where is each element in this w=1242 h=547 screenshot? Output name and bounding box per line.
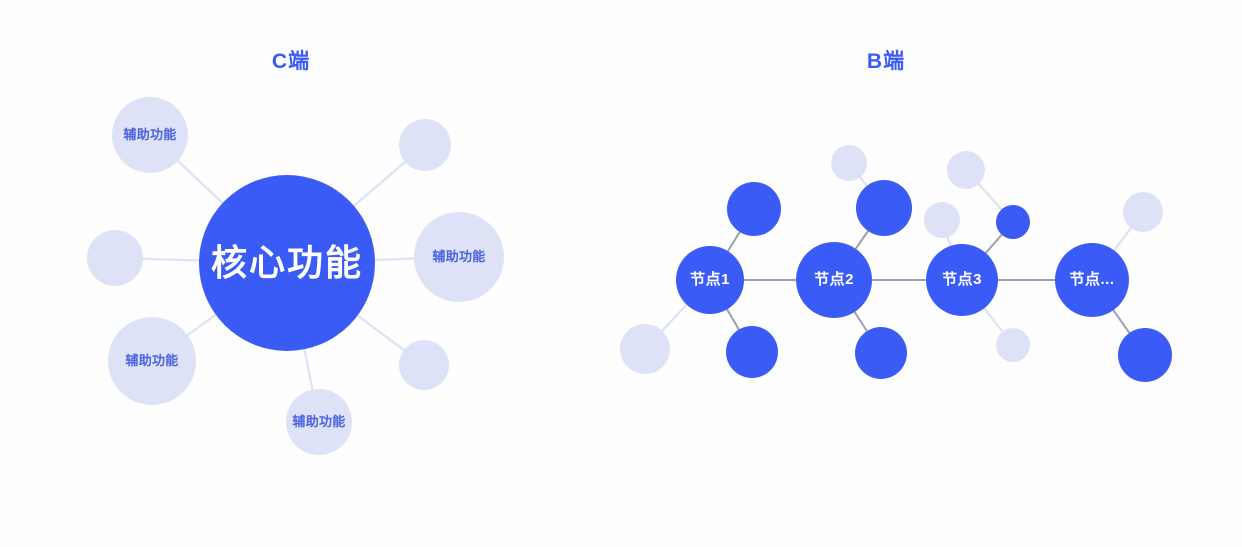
c-decorative-circle-4 — [399, 340, 449, 390]
b-branch-edge-6 — [986, 235, 1002, 253]
c-satellite-node-3[interactable]: 辅助功能 — [286, 389, 352, 455]
b-branch-edge-5 — [860, 177, 867, 186]
b-branch-edge-0 — [728, 232, 740, 251]
c-satellite-node-0[interactable]: 辅助功能 — [112, 97, 188, 173]
b-branch-edge-8 — [948, 237, 951, 246]
b-branch-edge-2 — [662, 305, 687, 331]
b-branch-node-11 — [1118, 328, 1172, 382]
b-branch-node-4 — [855, 327, 907, 379]
c-satellite-node-0-label: 辅助功能 — [123, 128, 176, 142]
c-satellite-node-2[interactable]: 辅助功能 — [108, 317, 196, 405]
b-branch-edge-1 — [727, 309, 739, 329]
b-chain-node-0-label: 节点1 — [690, 272, 730, 289]
b-chain-node-2-label: 节点3 — [942, 272, 982, 289]
b-branch-node-2 — [620, 324, 670, 374]
c-edge-1 — [143, 259, 199, 261]
c-decorative-circle-6 — [399, 119, 451, 171]
panel-title-c: C端 — [272, 45, 310, 75]
b-chain-node-3-label: 节点... — [1069, 272, 1114, 289]
b-branch-node-6 — [996, 205, 1030, 239]
b-branch-node-9 — [996, 328, 1030, 362]
c-core-node-label: 核心功能 — [211, 243, 363, 283]
b-branch-edge-10 — [1114, 228, 1131, 250]
b-chain-node-1[interactable]: 节点2 — [796, 242, 872, 318]
panel-title-b: B端 — [867, 45, 905, 75]
c-edge-5 — [375, 259, 414, 260]
c-satellite-node-5[interactable]: 辅助功能 — [414, 212, 504, 302]
c-satellite-node-5-label: 辅助功能 — [432, 250, 485, 264]
c-edge-3 — [304, 349, 312, 389]
b-branch-node-7 — [947, 151, 985, 189]
c-satellite-node-3-label: 辅助功能 — [292, 415, 345, 429]
diagram-canvas: C端 B端 核心功能 辅助功能辅助功能辅助功能辅助功能 节点1节点2节点3节点.… — [0, 0, 1242, 547]
b-branch-edge-9 — [984, 308, 1002, 331]
b-branch-node-5 — [831, 145, 867, 181]
c-edge-4 — [358, 316, 404, 351]
b-branch-node-10 — [1123, 192, 1163, 232]
b-branch-edge-7 — [979, 184, 1002, 209]
c-core-node[interactable]: 核心功能 — [199, 175, 375, 351]
c-edge-0 — [178, 161, 223, 203]
b-chain-node-3[interactable]: 节点... — [1055, 243, 1129, 317]
b-branch-node-8 — [924, 202, 960, 238]
b-branch-edge-3 — [856, 231, 868, 249]
b-chain-node-0[interactable]: 节点1 — [676, 246, 744, 314]
b-branch-edge-11 — [1113, 310, 1129, 333]
b-branch-node-3 — [856, 180, 912, 236]
c-decorative-circle-1 — [87, 230, 143, 286]
b-chain-node-1-label: 节点2 — [814, 272, 854, 289]
c-edge-2 — [188, 315, 216, 335]
b-branch-node-0 — [727, 182, 781, 236]
c-edge-6 — [354, 162, 405, 206]
c-satellite-node-2-label: 辅助功能 — [125, 354, 178, 368]
b-chain-node-2[interactable]: 节点3 — [926, 244, 998, 316]
b-branch-node-1 — [726, 326, 778, 378]
b-branch-edge-4 — [855, 312, 867, 331]
